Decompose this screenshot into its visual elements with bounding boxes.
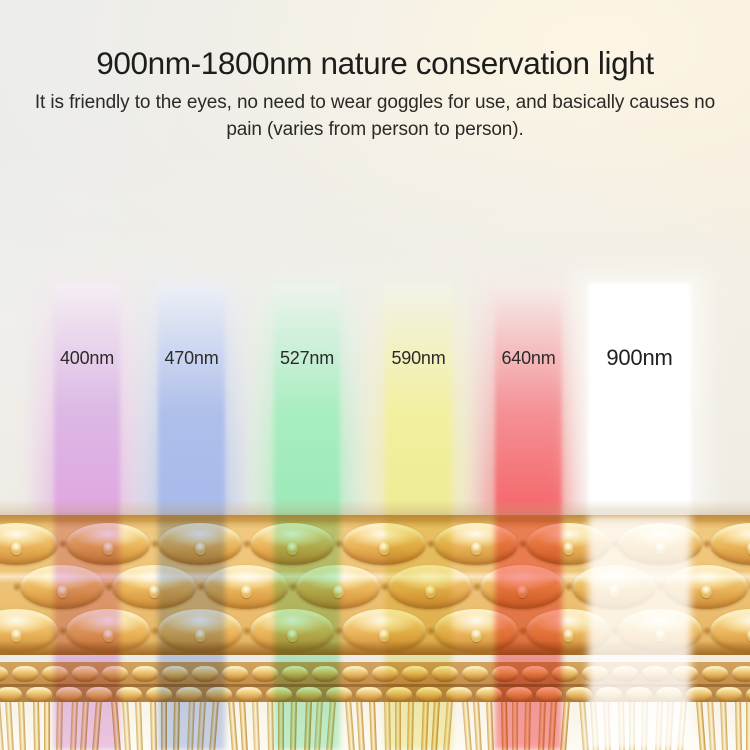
product-feature-image: 900nm-1800nm nature conservation light I…	[0, 0, 750, 750]
beam-470nm-hardware-tint	[158, 515, 225, 750]
beam-400nm-hardware-tint-fill	[54, 515, 120, 750]
beam-640nm-hardware-tint-fill	[495, 515, 562, 750]
beam-640nm-hardware-tint	[495, 515, 562, 750]
beam-590nm-hardware-tint	[385, 515, 452, 750]
beam-900nm-hardware-wash	[588, 515, 691, 750]
beam-527nm-hardware-tint	[274, 515, 340, 750]
beam-470nm-hardware-tint-fill	[158, 515, 225, 750]
beam-400nm-hardware-tint	[54, 515, 120, 750]
beam-590nm-hardware-tint-fill	[385, 515, 452, 750]
beam-527nm-hardware-tint-fill	[274, 515, 340, 750]
